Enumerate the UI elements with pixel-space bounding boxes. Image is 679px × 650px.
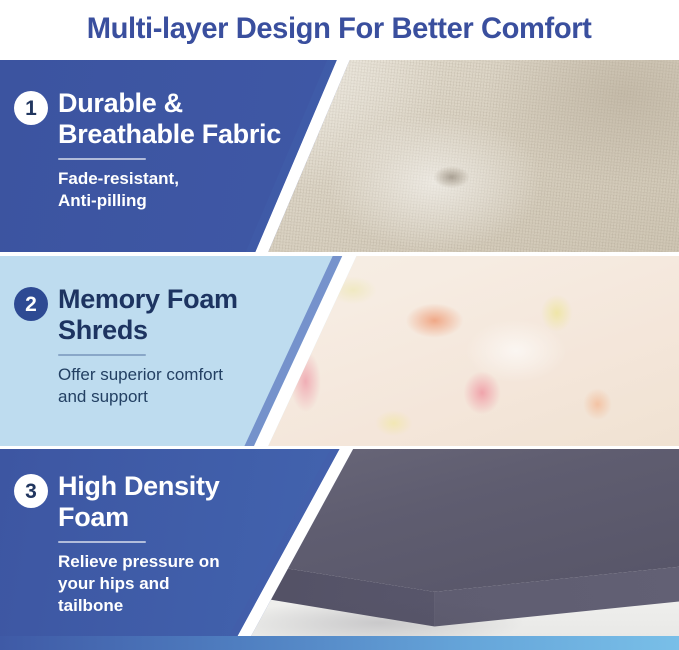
panel-3-headline-line2: Foam: [58, 502, 219, 533]
panel-3-subcopy-line1: Relieve pressure on: [58, 551, 220, 573]
step-badge-2: 2: [14, 287, 48, 321]
step-badge-1: 1: [14, 91, 48, 125]
panel-2-subcopy-line1: Offer superior comfort: [58, 364, 238, 386]
panel-3-subcopy-line2: your hips and: [58, 573, 220, 595]
panel-2-subcopy-line2: and support: [58, 386, 238, 408]
panel-1-subcopy-line1: Fade-resistant,: [58, 168, 281, 190]
panel-2-divider: [58, 354, 146, 356]
panel-3-headline-row: 3 High Density Foam: [14, 471, 220, 533]
panel-1-headline-line1: Durable &: [58, 88, 281, 119]
panel-2-headline-line1: Memory Foam: [58, 284, 238, 315]
page-title: Multi-layer Design For Better Comfort: [87, 12, 592, 46]
panel-3-copy: 3 High Density Foam Relieve pressure on …: [14, 471, 220, 617]
panel-3-headline: High Density Foam: [58, 471, 219, 533]
panel-3-subcopy-line3: tailbone: [58, 595, 220, 617]
panel-2-headline-line2: Shreds: [58, 315, 238, 346]
feature-panel-3: 3 High Density Foam Relieve pressure on …: [0, 449, 679, 642]
step-badge-3: 3: [14, 474, 48, 508]
panel-2-copy: 2 Memory Foam Shreds Offer superior comf…: [14, 284, 238, 408]
feature-panel-2: 2 Memory Foam Shreds Offer superior comf…: [0, 256, 679, 446]
panel-2-subcopy: Offer superior comfort and support: [58, 364, 238, 408]
feature-panel-1: 1 Durable & Breathable Fabric Fade-resis…: [0, 60, 679, 252]
panel-1-headline-line2: Breathable Fabric: [58, 119, 281, 150]
panel-1-divider: [58, 158, 146, 160]
panel-2-headline: Memory Foam Shreds: [58, 284, 238, 346]
bottom-accent-strip: [0, 636, 679, 650]
panel-1-copy: 1 Durable & Breathable Fabric Fade-resis…: [14, 88, 281, 212]
infographic-root: Multi-layer Design For Better Comfort 1 …: [0, 0, 679, 650]
panel-2-headline-row: 2 Memory Foam Shreds: [14, 284, 238, 346]
infographic-title-bar: Multi-layer Design For Better Comfort: [0, 0, 679, 58]
panel-1-subcopy: Fade-resistant, Anti-pilling: [58, 168, 281, 212]
panel-3-headline-line1: High Density: [58, 471, 219, 502]
panel-1-headline-row: 1 Durable & Breathable Fabric: [14, 88, 281, 150]
panel-1-subcopy-line2: Anti-pilling: [58, 190, 281, 212]
panel-3-divider: [58, 541, 146, 543]
panel-1-headline: Durable & Breathable Fabric: [58, 88, 281, 150]
panel-3-subcopy: Relieve pressure on your hips and tailbo…: [58, 551, 220, 617]
